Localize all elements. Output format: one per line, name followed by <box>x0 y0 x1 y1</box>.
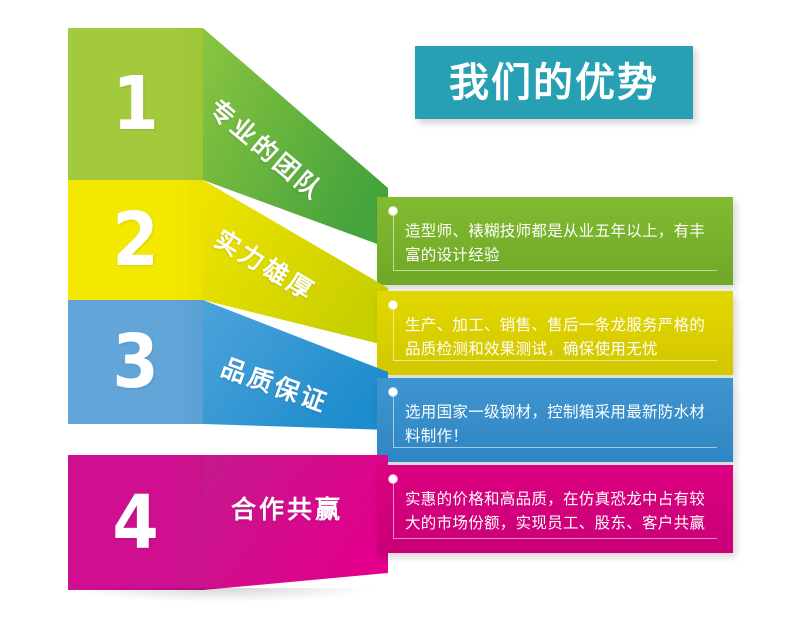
ribbon-4: 合作共赢 <box>203 455 388 595</box>
description-text-1: 造型师、裱糊技师都是从业五年以上，有丰富的设计经验 <box>405 219 713 267</box>
description-text-3: 选用国家一级钢材，控制箱采用最新防水材料制作！ <box>405 400 713 448</box>
description-panel-4[interactable]: 实惠的价格和高品质，在仿真恐龙中占有较大的市场份额，实现员工、股东、客户共赢 <box>377 465 733 553</box>
title-banner: 我们的优势 <box>415 46 693 119</box>
number-block-4: 4 <box>68 455 203 590</box>
bullet-dot-icon-3 <box>389 388 397 396</box>
bullet-dot-icon-4 <box>389 475 397 483</box>
bullet-dot-icon-1 <box>389 207 397 215</box>
description-text-2: 生产、加工、销售、售后一条龙服务严格的品质检测和效果测试，确保使用无忧 <box>405 313 713 361</box>
page-title: 我们的优势 <box>449 63 659 103</box>
number-block-2: 2 <box>68 180 203 300</box>
number-label-1: 1 <box>68 28 203 180</box>
description-panel-1[interactable]: 造型师、裱糊技师都是从业五年以上，有丰富的设计经验 <box>377 197 733 285</box>
description-panel-2[interactable]: 生产、加工、销售、售后一条龙服务严格的品质检测和效果测试，确保使用无忧 <box>377 291 733 375</box>
ribbon-label-4: 合作共赢 <box>231 490 343 526</box>
number-block-3: 3 <box>68 300 203 424</box>
number-label-4: 4 <box>68 455 203 590</box>
number-block-1: 1 <box>68 28 203 180</box>
number-label-2: 2 <box>68 180 203 300</box>
description-panel-3[interactable]: 选用国家一级钢材，控制箱采用最新防水材料制作！ <box>377 378 733 462</box>
base-shadow <box>72 588 372 602</box>
bullet-dot-icon-2 <box>389 301 397 309</box>
ribbon-3: 品质保证 <box>203 300 388 480</box>
number-label-3: 3 <box>68 300 203 424</box>
infographic-canvas: 专业的团队 1 造型师、裱糊技师都是从业五年以上，有丰富的设计经验 <box>0 0 800 622</box>
description-text-4: 实惠的价格和高品质，在仿真恐龙中占有较大的市场份额，实现员工、股东、客户共赢 <box>405 487 713 535</box>
